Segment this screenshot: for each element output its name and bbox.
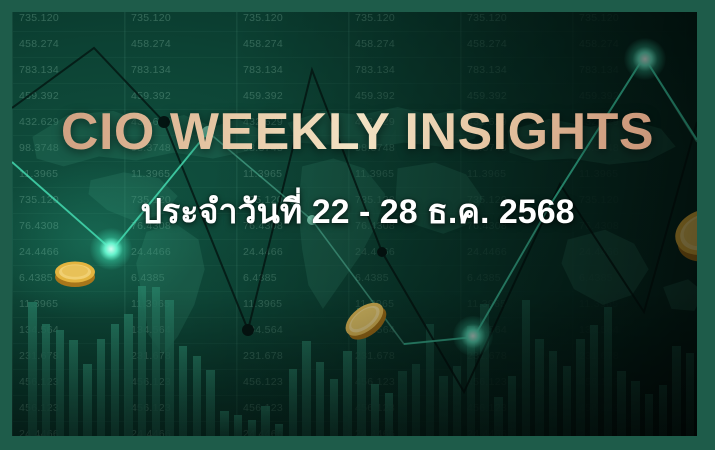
dark-trend-node: [242, 324, 254, 336]
coin-left: [52, 255, 98, 289]
cio-weekly-insights-banner: 735.120458.274783.134459.392432.62998.37…: [0, 0, 715, 450]
page-title: CIO WEEKLY INSIGHTS: [0, 103, 715, 161]
dark-trend-node: [377, 247, 387, 257]
coin-mid: [339, 298, 391, 342]
date-range-subtitle: ประจำวันที่ 22 - 28 ธ.ค. 2568: [0, 190, 715, 234]
